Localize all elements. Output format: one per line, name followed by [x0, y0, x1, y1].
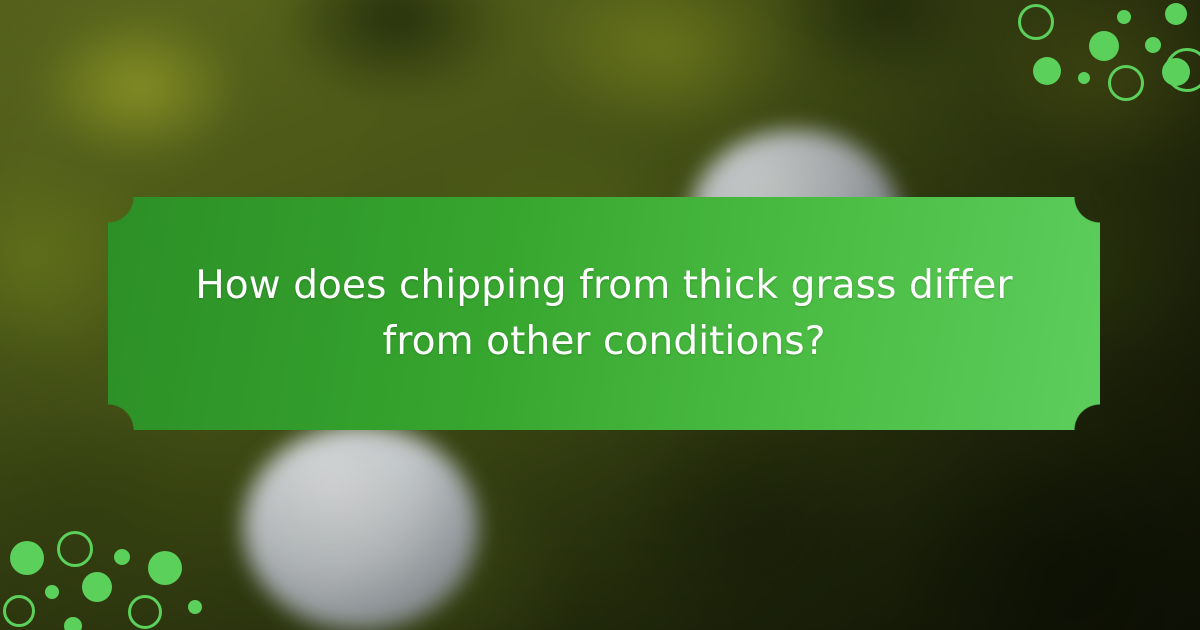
decoration-dot-9 — [188, 600, 202, 614]
decoration-dot-4 — [148, 551, 182, 585]
decoration-dot-10 — [64, 617, 82, 630]
decoration-dot-6 — [45, 585, 59, 599]
decoration-dot-7 — [3, 595, 35, 627]
poster-canvas: How does chipping from thick grass diffe… — [0, 0, 1200, 630]
decoration-dot-8 — [128, 595, 162, 629]
decoration-dot-2 — [57, 531, 93, 567]
question-text: How does chipping from thick grass diffe… — [108, 258, 1100, 370]
decoration-dot-3 — [114, 549, 130, 565]
decoration-dot-5 — [82, 572, 112, 602]
decoration-dot-1 — [10, 541, 44, 575]
question-card: How does chipping from thick grass diffe… — [108, 197, 1100, 430]
